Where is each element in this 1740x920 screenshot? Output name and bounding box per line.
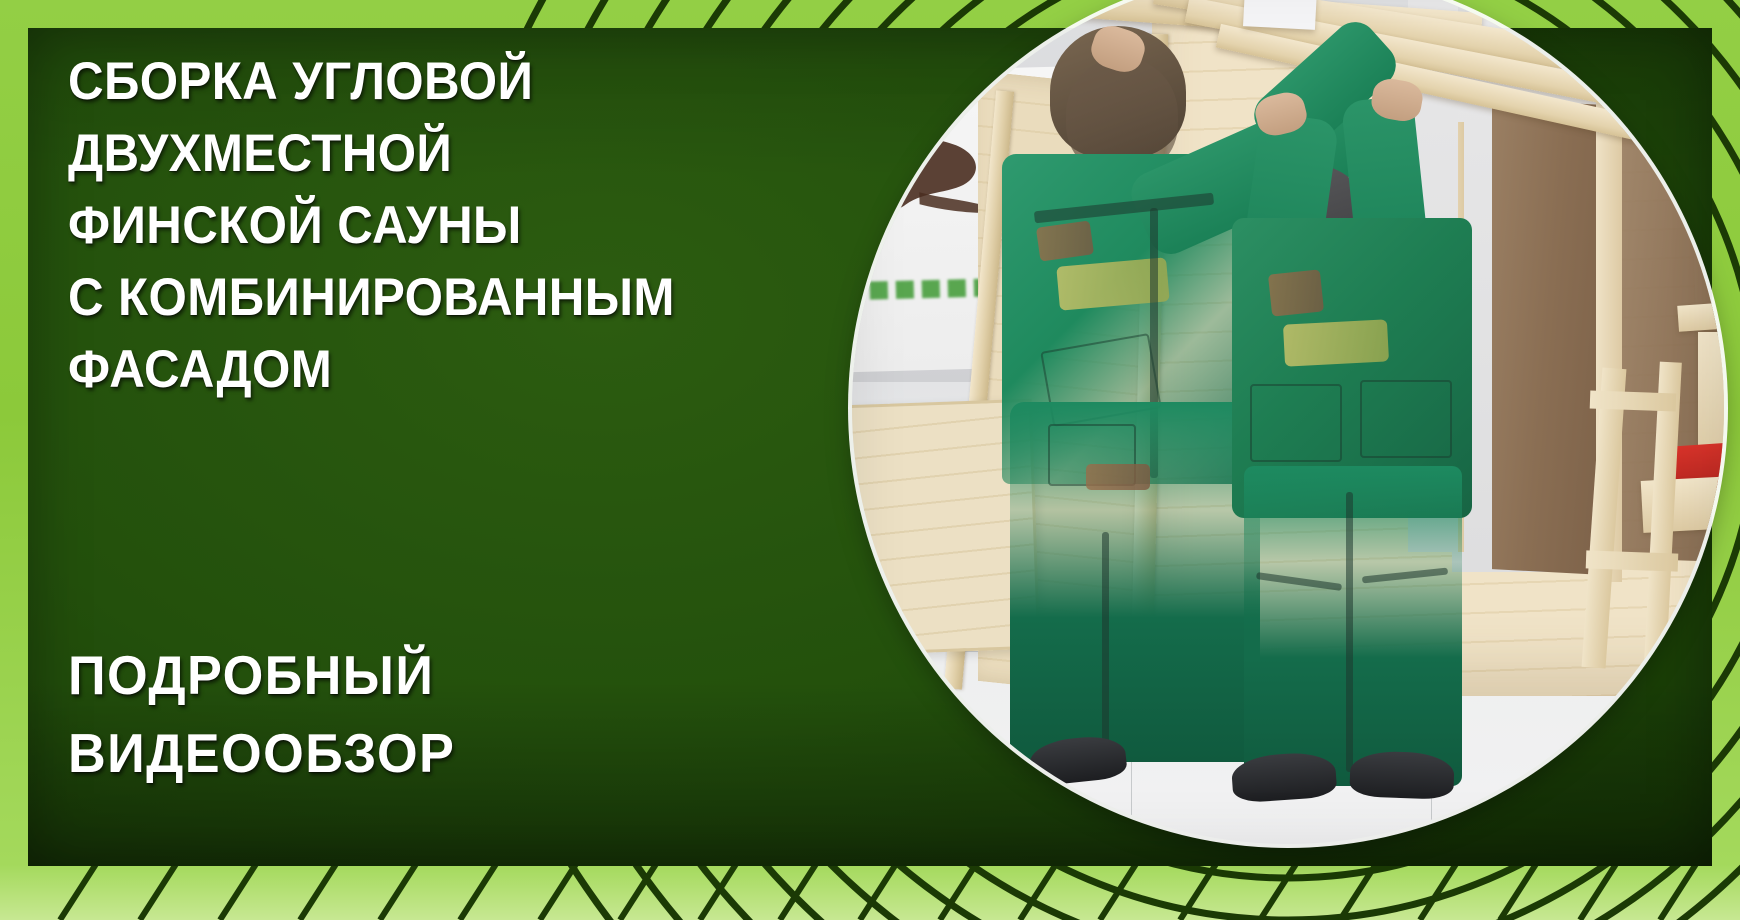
subtitle-line-2: ВИДЕООБЗОР bbox=[68, 714, 455, 792]
wood-frame-rung bbox=[1586, 550, 1679, 571]
worker-left-pants-patch bbox=[1086, 464, 1150, 490]
title-line-3: ФИНСКОЙ САУНЫ bbox=[68, 190, 849, 262]
circular-photo bbox=[852, 0, 1724, 844]
bottom-diagonal-stripes bbox=[0, 858, 1740, 920]
worker-left-leg-seam bbox=[1102, 532, 1109, 762]
worker-right-logo-badge bbox=[1268, 269, 1324, 316]
brown-door bbox=[1492, 99, 1602, 575]
poster-canvas: СБОРКА УГЛОВОЙ ДВУХМЕСТНОЙ ФИНСКОЙ САУНЫ… bbox=[0, 0, 1740, 920]
poster-subtitle: ПОДРОБНЫЙ ВИДЕООБЗОР bbox=[68, 636, 455, 792]
worker-right-pants bbox=[1244, 466, 1462, 786]
ceiling-board-paper-label bbox=[1243, 0, 1317, 30]
title-line-1: СБОРКА УГЛОВОЙ bbox=[68, 46, 849, 118]
worker-right-back-badge bbox=[1283, 319, 1389, 366]
worker-right-leg-seam bbox=[1346, 492, 1353, 772]
title-line-2: ДВУХМЕСТНОЙ bbox=[68, 118, 849, 190]
photo-scene bbox=[852, 0, 1724, 844]
worker-right-pocket bbox=[1360, 380, 1452, 458]
wood-frame-rung bbox=[1590, 391, 1677, 412]
title-line-4: С КОМБИНИРОВАННЫМ bbox=[68, 262, 849, 334]
worker-right-pocket bbox=[1250, 384, 1342, 462]
subtitle-line-1: ПОДРОБНЫЙ bbox=[68, 636, 455, 714]
title-line-5: ФАСАДОМ bbox=[68, 334, 849, 406]
poster-title: СБОРКА УГЛОВОЙ ДВУХМЕСТНОЙ ФИНСКОЙ САУНЫ… bbox=[68, 46, 849, 406]
